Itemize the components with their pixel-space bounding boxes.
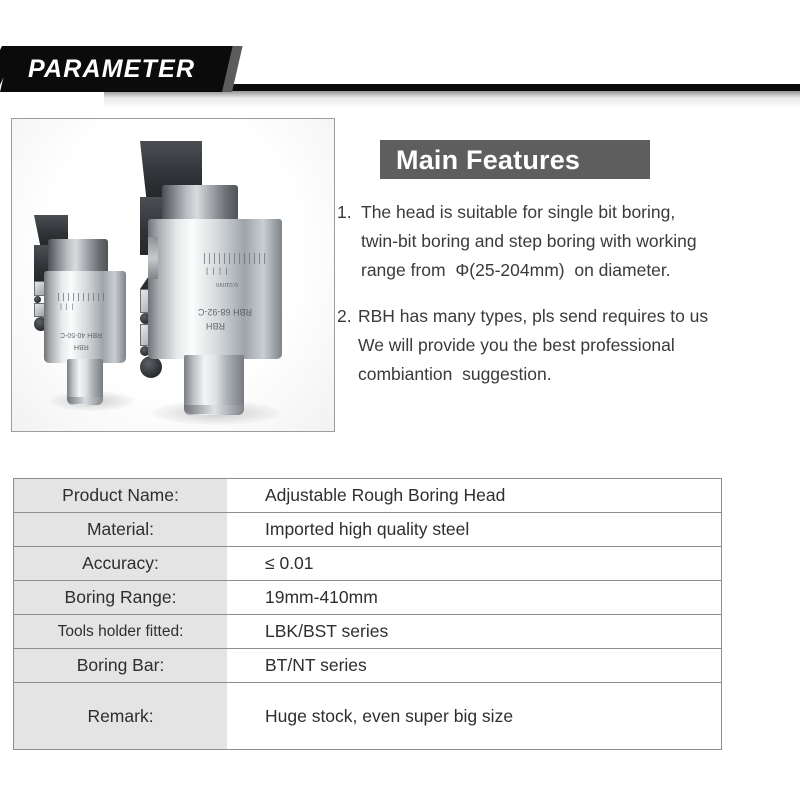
- feature-1-number: 1.: [337, 198, 361, 227]
- spec-value-accuracy: ≤ 0.01: [227, 547, 722, 581]
- large-engraving-unit: 0.01mm: [216, 281, 238, 287]
- spec-label-tools-holder-fitted: Tools holder fitted:: [14, 615, 228, 649]
- banner-title: PARAMETER: [28, 52, 195, 86]
- feature-2-line-3: combiantion suggestion.: [358, 360, 795, 389]
- specification-table: Product Name: Adjustable Rough Boring He…: [13, 478, 722, 750]
- spec-label-material: Material:: [14, 513, 228, 547]
- feature-1-line-2: twin-bit boring and step boring with wor…: [361, 227, 795, 256]
- spec-value-remark: Huge stock, even super big size: [227, 683, 722, 750]
- spec-label-boring-bar: Boring Bar:: [14, 649, 228, 683]
- table-row: Product Name: Adjustable Rough Boring He…: [14, 479, 722, 513]
- spec-value-boring-range: 19mm-410mm: [227, 581, 722, 615]
- spec-value-boring-bar: BT/NT series: [227, 649, 722, 683]
- table-row: Boring Bar: BT/NT series: [14, 649, 722, 683]
- boring-head-small: | | | RBH 40-50-C RBH: [34, 215, 138, 405]
- large-body: [148, 219, 282, 359]
- main-features-list: 1. The head is suitable for single bit b…: [337, 198, 795, 406]
- boring-head-large: | | | | 0.01mm RBH 68-92-C RBH: [140, 141, 292, 415]
- spec-value-material: Imported high quality steel: [227, 513, 722, 547]
- header-rule-shadow: [104, 91, 800, 108]
- large-engraving-scale: | | | |: [206, 267, 228, 276]
- spec-label-remark: Remark:: [14, 683, 228, 750]
- table-row: Accuracy: ≤ 0.01: [14, 547, 722, 581]
- table-row: Tools holder fitted: LBK/BST series: [14, 615, 722, 649]
- main-features-heading-text: Main Features: [396, 143, 580, 177]
- feature-2-number: 2.: [337, 302, 361, 331]
- table-row: Remark: Huge stock, even super big size: [14, 683, 722, 750]
- feature-2-line-2: We will provide you the best professiona…: [358, 331, 795, 360]
- main-features-heading: Main Features: [380, 140, 650, 179]
- large-engraving-brand: RBH: [206, 321, 225, 331]
- large-shank-ring: [184, 405, 244, 414]
- small-scale-band: [58, 293, 104, 301]
- small-insert-screw-left: [34, 296, 41, 303]
- feature-1-line-3: range from Φ(25-204mm) on diameter.: [361, 256, 795, 285]
- large-body-seam: [148, 237, 158, 279]
- product-photo: | | | RBH 40-50-C RBH | | | | 0.01mm RBH…: [11, 118, 335, 432]
- feature-2-lines: RBH has many types, pls send requires to…: [358, 302, 795, 389]
- spec-label-product-name: Product Name:: [14, 479, 228, 513]
- feature-1-lines: The head is suitable for single bit bori…: [361, 198, 795, 285]
- large-engraving-model: RBH 68-92-C: [198, 307, 252, 317]
- feature-item-2: 2. RBH has many types, pls send requires…: [337, 302, 795, 389]
- page-header-banner: PARAMETER: [0, 46, 800, 108]
- feature-item-1: 1. The head is suitable for single bit b…: [337, 198, 795, 285]
- banner-tag-notch: [0, 46, 18, 92]
- small-engraving-model: RBH 40-50-C: [60, 331, 102, 338]
- spec-value-product-name: Adjustable Rough Boring Head: [227, 479, 722, 513]
- spec-label-boring-range: Boring Range:: [14, 581, 228, 615]
- small-engraving-brand: RBH: [74, 343, 89, 350]
- large-scale-band: [204, 253, 266, 264]
- table-row: Boring Range: 19mm-410mm: [14, 581, 722, 615]
- spec-label-accuracy: Accuracy:: [14, 547, 228, 581]
- large-shank-screw: [140, 356, 162, 378]
- feature-1-line-1: The head is suitable for single bit bori…: [361, 198, 795, 227]
- small-shank-ring: [67, 397, 103, 404]
- feature-2-line-1: RBH has many types, pls send requires to…: [358, 302, 795, 331]
- small-engraving-scale: | | |: [60, 303, 73, 310]
- spec-value-tools-holder-fitted: LBK/BST series: [227, 615, 722, 649]
- table-row: Material: Imported high quality steel: [14, 513, 722, 547]
